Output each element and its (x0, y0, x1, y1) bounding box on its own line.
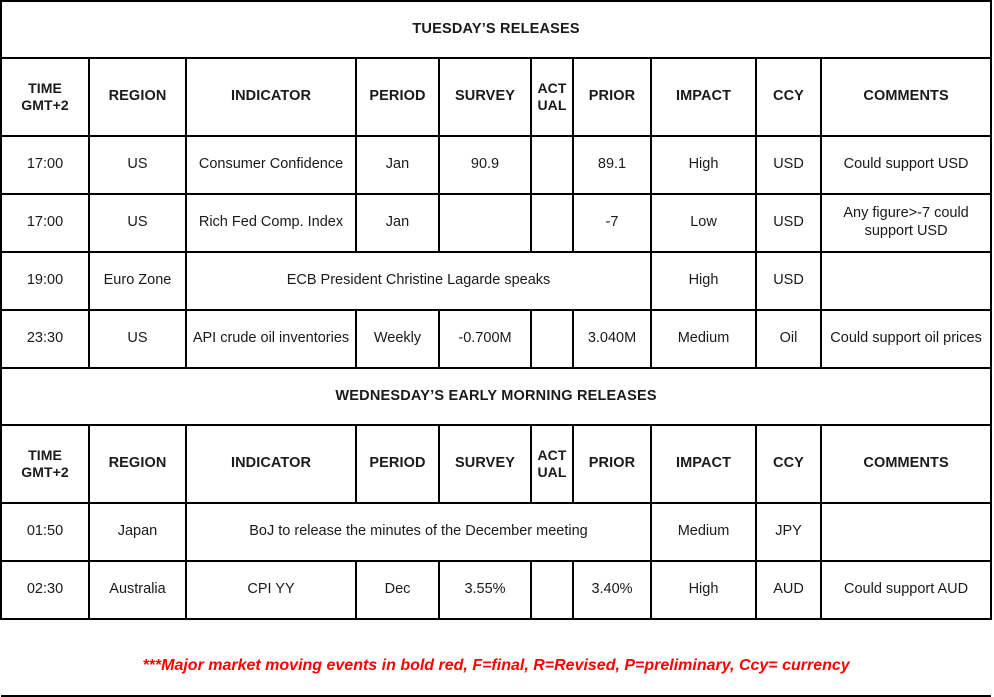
column-header-region: REGION (89, 58, 186, 136)
cell-impact: High (651, 252, 756, 310)
cell-region: US (89, 194, 186, 252)
column-header-prior: PRIOR (573, 58, 651, 136)
cell-time: 02:30 (1, 561, 89, 619)
releases-table: TUESDAY’S RELEASESTIMEGMT+2REGIONINDICAT… (0, 0, 992, 697)
cell-survey (439, 194, 531, 252)
economic-calendar-sheet: TUESDAY’S RELEASESTIMEGMT+2REGIONINDICAT… (0, 0, 994, 641)
column-header-row: TIMEGMT+2REGIONINDICATORPERIODSURVEYACTU… (1, 58, 991, 136)
cell-time: 23:30 (1, 310, 89, 368)
column-header-actual: ACTUAL (531, 425, 573, 503)
section-banner-row: TUESDAY’S RELEASES (1, 1, 991, 58)
column-header-time-line2: GMT+2 (5, 464, 85, 482)
column-header-time-line1: TIME (5, 80, 85, 98)
column-header-time: TIMEGMT+2 (1, 425, 89, 503)
spacer-row (1, 619, 991, 628)
column-header-time-line1: TIME (5, 447, 85, 465)
cell-actual (531, 561, 573, 619)
footer-note-row: ***Major market moving events in bold re… (1, 628, 991, 696)
column-header-comments: COMMENTS (821, 58, 991, 136)
cell-ccy: JPY (756, 503, 821, 561)
cell-actual (531, 310, 573, 368)
column-header-impact: IMPACT (651, 58, 756, 136)
spacer-cell (1, 619, 991, 628)
cell-time: 01:50 (1, 503, 89, 561)
table-row[interactable]: 19:00Euro ZoneECB President Christine La… (1, 252, 991, 310)
cell-impact: Medium (651, 310, 756, 368)
cell-comments: Could support AUD (821, 561, 991, 619)
cell-time: 19:00 (1, 252, 89, 310)
column-header-time-line2: GMT+2 (5, 97, 85, 115)
cell-actual (531, 194, 573, 252)
cell-ccy: USD (756, 194, 821, 252)
cell-period: Jan (356, 136, 439, 194)
cell-survey: 90.9 (439, 136, 531, 194)
footer-note: ***Major market moving events in bold re… (1, 628, 991, 696)
column-header-time: TIMEGMT+2 (1, 58, 89, 136)
cell-survey: -0.700M (439, 310, 531, 368)
cell-impact: Medium (651, 503, 756, 561)
cell-impact: Low (651, 194, 756, 252)
cell-actual (531, 136, 573, 194)
cell-survey: 3.55% (439, 561, 531, 619)
table-row[interactable]: 17:00USRich Fed Comp. IndexJan-7LowUSDAn… (1, 194, 991, 252)
column-header-region: REGION (89, 425, 186, 503)
cell-prior: 3.040M (573, 310, 651, 368)
column-header-ccy: CCY (756, 425, 821, 503)
column-header-prior: PRIOR (573, 425, 651, 503)
column-header-period: PERIOD (356, 425, 439, 503)
cell-comments (821, 252, 991, 310)
cell-prior: 89.1 (573, 136, 651, 194)
cell-indicator: Consumer Confidence (186, 136, 356, 194)
column-header-indicator: INDICATOR (186, 425, 356, 503)
cell-time: 17:00 (1, 194, 89, 252)
table-row[interactable]: 23:30USAPI crude oil inventoriesWeekly-0… (1, 310, 991, 368)
cell-comments: Any figure>-7 could support USD (821, 194, 991, 252)
table-row[interactable]: 01:50JapanBoJ to release the minutes of … (1, 503, 991, 561)
cell-region: US (89, 310, 186, 368)
column-header-comments: COMMENTS (821, 425, 991, 503)
table-row[interactable]: 17:00USConsumer ConfidenceJan90.989.1Hig… (1, 136, 991, 194)
cell-region: Euro Zone (89, 252, 186, 310)
column-header-indicator: INDICATOR (186, 58, 356, 136)
column-header-actual: ACTUAL (531, 58, 573, 136)
table-row[interactable]: 02:30AustraliaCPI YYDec3.55%3.40%HighAUD… (1, 561, 991, 619)
cell-period: Dec (356, 561, 439, 619)
cell-impact: High (651, 136, 756, 194)
cell-ccy: Oil (756, 310, 821, 368)
section-title: TUESDAY’S RELEASES (1, 1, 991, 58)
cell-ccy: USD (756, 252, 821, 310)
column-header-impact: IMPACT (651, 425, 756, 503)
column-header-period: PERIOD (356, 58, 439, 136)
cell-impact: High (651, 561, 756, 619)
cell-region: US (89, 136, 186, 194)
cell-comments: Could support USD (821, 136, 991, 194)
cell-indicator: Rich Fed Comp. Index (186, 194, 356, 252)
cell-indicator: CPI YY (186, 561, 356, 619)
cell-indicator: ECB President Christine Lagarde speaks (186, 252, 651, 310)
column-header-survey: SURVEY (439, 425, 531, 503)
cell-ccy: AUD (756, 561, 821, 619)
cell-time: 17:00 (1, 136, 89, 194)
cell-region: Australia (89, 561, 186, 619)
cell-comments: Could support oil prices (821, 310, 991, 368)
cell-period: Jan (356, 194, 439, 252)
cell-prior: 3.40% (573, 561, 651, 619)
cell-period: Weekly (356, 310, 439, 368)
cell-region: Japan (89, 503, 186, 561)
column-header-row: TIMEGMT+2REGIONINDICATORPERIODSURVEYACTU… (1, 425, 991, 503)
cell-prior: -7 (573, 194, 651, 252)
section-title: WEDNESDAY’S EARLY MORNING RELEASES (1, 368, 991, 425)
table-body: TUESDAY’S RELEASESTIMEGMT+2REGIONINDICAT… (1, 1, 991, 696)
cell-ccy: USD (756, 136, 821, 194)
column-header-survey: SURVEY (439, 58, 531, 136)
column-header-ccy: CCY (756, 58, 821, 136)
cell-indicator: API crude oil inventories (186, 310, 356, 368)
section-banner-row: WEDNESDAY’S EARLY MORNING RELEASES (1, 368, 991, 425)
cell-comments (821, 503, 991, 561)
cell-indicator: BoJ to release the minutes of the Decemb… (186, 503, 651, 561)
